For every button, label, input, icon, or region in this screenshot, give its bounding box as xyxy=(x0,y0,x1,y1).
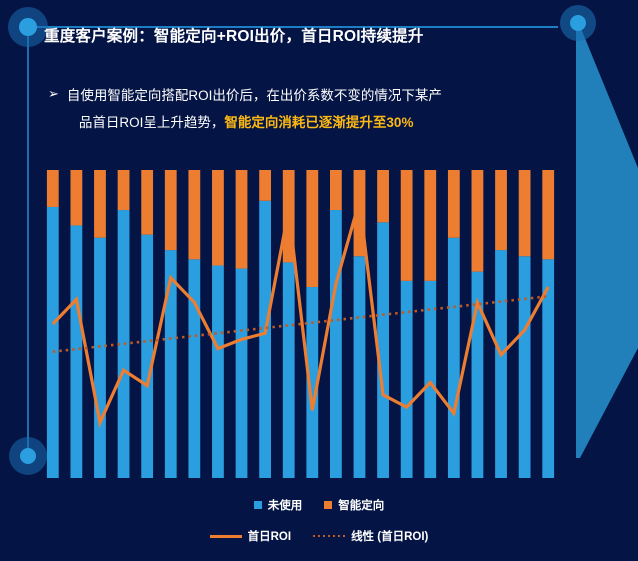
bar-segment-smart xyxy=(424,170,436,281)
bar-group xyxy=(330,170,342,478)
chart-legend-bars: 未使用 智能定向 xyxy=(0,497,638,513)
chart-stacked-bar-line xyxy=(20,160,560,490)
bar-group xyxy=(141,170,153,478)
bar-segment-smart xyxy=(94,170,106,238)
bar-segment-unused xyxy=(495,250,507,478)
bar-segment-smart xyxy=(472,170,484,272)
bar-segment-smart xyxy=(141,170,153,235)
legend-label-trendline: 线性 (首日ROI) xyxy=(351,528,428,544)
bar-segment-unused xyxy=(212,265,224,478)
bar-segment-smart xyxy=(377,170,389,222)
bar-group xyxy=(306,170,318,478)
bar-group xyxy=(118,170,130,478)
legend-item-roi-line[interactable]: 首日ROI xyxy=(210,528,291,544)
bar-segment-unused xyxy=(424,281,436,478)
bar-group xyxy=(448,170,460,478)
bar-segment-unused xyxy=(283,262,295,478)
legend-swatch-dotted-icon xyxy=(313,535,345,538)
bar-segment-smart xyxy=(448,170,460,238)
bullet-block: ➢ 自使用智能定向搭配ROI出价后，在出价系数不变的情况下某产 品首日ROI呈上… xyxy=(48,82,528,136)
bar-segment-unused xyxy=(70,225,82,478)
legend-swatch-line-icon xyxy=(210,535,242,538)
legend-item-smart-targeting[interactable]: 智能定向 xyxy=(324,497,384,513)
bar-segment-unused xyxy=(519,256,531,478)
bar-group xyxy=(495,170,507,478)
bar-segment-smart xyxy=(259,170,271,201)
bullet-line-2-highlight: 智能定向消耗已逐渐提升至30% xyxy=(224,115,413,130)
bar-group xyxy=(401,170,413,478)
bar-segment-smart xyxy=(306,170,318,287)
node-top-right xyxy=(560,5,596,41)
bar-segment-smart xyxy=(495,170,507,250)
bar-segment-smart xyxy=(188,170,200,259)
bar-segment-smart xyxy=(401,170,413,281)
bar-segment-smart xyxy=(542,170,554,259)
bar-segment-smart xyxy=(47,170,59,207)
bar-segment-smart xyxy=(165,170,177,250)
chart-plot-area xyxy=(20,160,560,490)
bar-group xyxy=(212,170,224,478)
bar-segment-unused xyxy=(354,256,366,478)
legend-label-roi: 首日ROI xyxy=(248,528,291,544)
bar-segment-unused xyxy=(47,207,59,478)
bar-segment-unused xyxy=(448,238,460,478)
bar-segment-unused xyxy=(141,235,153,478)
chart-legend-lines: 首日ROI 线性 (首日ROI) xyxy=(0,528,638,544)
bar-segment-unused xyxy=(330,210,342,478)
legend-label-unused: 未使用 xyxy=(268,497,303,513)
bar-segment-smart xyxy=(70,170,82,225)
bar-group xyxy=(236,170,248,478)
bar-segment-smart xyxy=(330,170,342,210)
bar-segment-unused xyxy=(401,281,413,478)
bar-segment-smart xyxy=(236,170,248,269)
slide-canvas: 重度客户案例：智能定向+ROI出价，首日ROI持续提升 ➢ 自使用智能定向搭配R… xyxy=(0,0,638,561)
bar-segment-unused xyxy=(188,259,200,478)
bar-group xyxy=(424,170,436,478)
legend-swatch-orange-icon xyxy=(324,501,332,509)
bar-group xyxy=(94,170,106,478)
legend-item-unused[interactable]: 未使用 xyxy=(254,497,303,513)
bullet-line-2-plain: 品首日ROI呈上升趋势， xyxy=(79,115,225,130)
bar-segment-smart xyxy=(519,170,531,256)
page-title: 重度客户案例：智能定向+ROI出价，首日ROI持续提升 xyxy=(44,24,424,46)
arrow-bullet-icon: ➢ xyxy=(48,82,59,105)
legend-swatch-blue-icon xyxy=(254,501,262,509)
bar-segment-unused xyxy=(94,238,106,478)
bullet-paragraph: 自使用智能定向搭配ROI出价后，在出价系数不变的情况下某产 品首日ROI呈上升趋… xyxy=(67,82,442,136)
bullet-line-1: 自使用智能定向搭配ROI出价后，在出价系数不变的情况下某产 xyxy=(67,88,442,103)
bar-group xyxy=(165,170,177,478)
bar-group xyxy=(542,170,554,478)
bar-segment-smart xyxy=(118,170,130,210)
bar-group xyxy=(188,170,200,478)
bar-segment-unused xyxy=(236,269,248,478)
bar-group xyxy=(259,170,271,478)
bar-group xyxy=(377,170,389,478)
legend-label-smart-targeting: 智能定向 xyxy=(338,497,384,513)
node-top-left xyxy=(8,7,48,47)
bar-segment-unused xyxy=(259,201,271,478)
legend-item-trendline[interactable]: 线性 (首日ROI) xyxy=(313,528,428,544)
bar-segment-smart xyxy=(212,170,224,265)
